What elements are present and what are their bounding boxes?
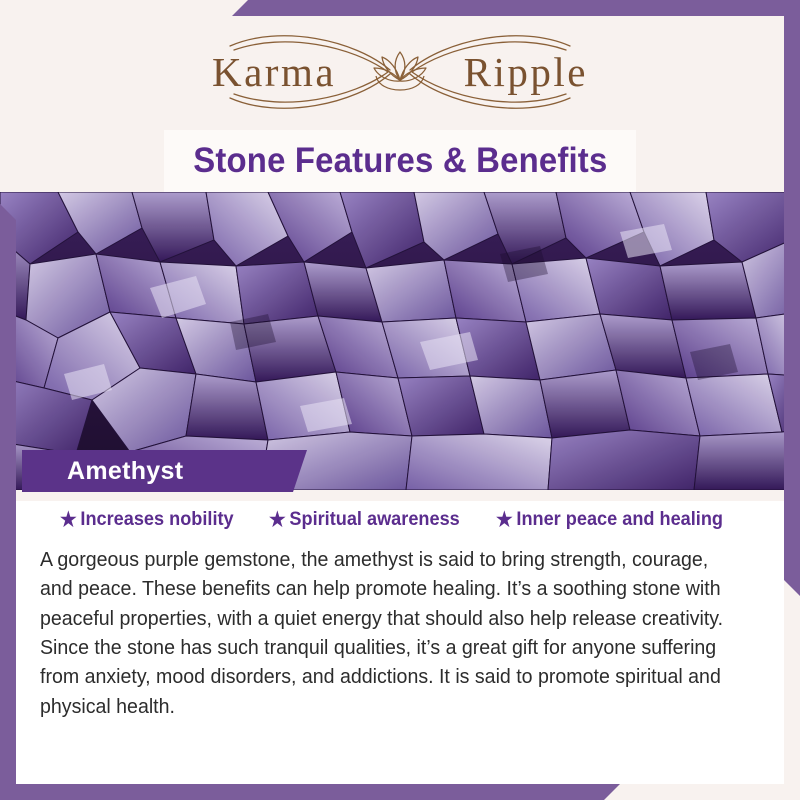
stone-name-banner: Amethyst <box>22 450 307 492</box>
benefit-item: ★ Inner peace and healing <box>496 508 723 531</box>
page-title: Stone Features & Benefits <box>193 141 607 181</box>
content-panel: ★ Increases nobility ★ Spiritual awarene… <box>16 490 784 784</box>
star-icon: ★ <box>269 510 286 530</box>
stone-info-card: Karma Ripple Stone Features & Benefits <box>0 0 800 800</box>
benefit-label: Spiritual awareness <box>289 508 459 531</box>
star-icon: ★ <box>60 510 77 530</box>
stone-photo <box>0 192 800 490</box>
stone-description: A gorgeous purple gemstone, the amethyst… <box>40 545 728 721</box>
amethyst-crystal-illustration <box>0 192 800 490</box>
benefit-label: Inner peace and healing <box>516 508 723 531</box>
brand-word-left: Karma <box>212 49 336 95</box>
frame-border-right <box>784 0 800 596</box>
benefit-item: ★ Increases nobility <box>60 508 234 531</box>
benefit-item: ★ Spiritual awareness <box>269 508 460 531</box>
benefit-label: Increases nobility <box>80 508 233 531</box>
brand-word-right: Ripple <box>464 49 588 95</box>
star-icon: ★ <box>496 510 513 530</box>
frame-border-bottom <box>0 784 620 800</box>
stone-name: Amethyst <box>22 457 183 486</box>
frame-border-top <box>232 0 800 16</box>
title-band: Stone Features & Benefits <box>164 130 636 192</box>
frame-border-left <box>0 204 16 800</box>
brand-logo: Karma Ripple <box>0 24 800 120</box>
lotus-flourish-icon: Karma Ripple <box>190 26 610 118</box>
